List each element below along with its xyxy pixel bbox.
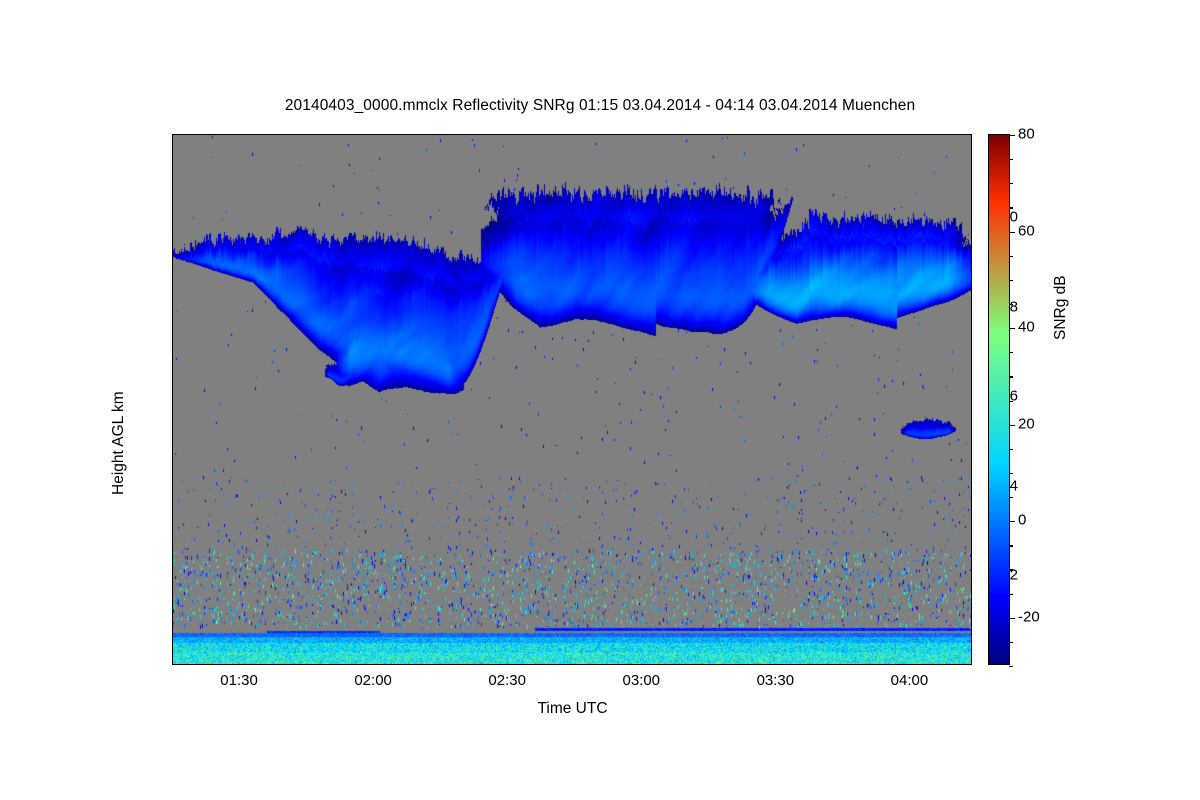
colorbar-tick-minor [1009, 256, 1013, 257]
y-tick-minor [172, 464, 173, 465]
colorbar-tick-minor [1009, 666, 1013, 667]
y-tick-minor [172, 442, 173, 443]
colorbar-tick-minor [1009, 473, 1013, 474]
colorbar-tick-minor [1009, 183, 1013, 184]
plot-area [172, 134, 972, 665]
y-tick-minor [172, 420, 173, 421]
colorbar-tick-major [1009, 135, 1015, 136]
x-tick-label: 02:00 [354, 672, 392, 689]
x-tick-minor [213, 664, 214, 665]
y-tick-minor [172, 240, 173, 241]
y-tick-minor [172, 599, 173, 600]
x-tick-minor [267, 664, 268, 665]
x-tick-minor [294, 664, 295, 665]
colorbar-tick-minor [1009, 497, 1013, 498]
colorbar-tick-label: 0 [1018, 512, 1026, 529]
radar-reflectivity-figure: 20140403_0000.mmclx Reflectivity SNRg 01… [0, 0, 1200, 800]
y-tick-label: 8 [1010, 298, 1018, 315]
x-tick-label: 02:30 [488, 672, 526, 689]
y-tick-label: 6 [1010, 388, 1018, 405]
x-tick-minor [320, 664, 321, 665]
y-tick-minor [172, 509, 173, 510]
colorbar-tick-minor [1009, 569, 1013, 570]
colorbar-gradient [989, 135, 1009, 664]
colorbar-tick-major [1009, 521, 1015, 522]
colorbar-tick-label: 60 [1018, 222, 1035, 239]
x-tick-minor [374, 664, 375, 665]
x-tick-minor [830, 664, 831, 665]
y-tick-major [172, 397, 173, 398]
x-tick-minor [803, 664, 804, 665]
colorbar-tick-minor [1009, 207, 1013, 208]
x-tick-major [776, 664, 777, 665]
colorbar-tick-major [1009, 425, 1015, 426]
x-tick-major [642, 664, 643, 665]
y-tick-major [172, 308, 173, 309]
x-tick-minor [776, 664, 777, 665]
x-tick-major [910, 664, 911, 665]
y-tick-minor [172, 352, 173, 353]
x-tick-minor [750, 664, 751, 665]
colorbar-tick-major [1009, 618, 1015, 619]
x-tick-minor [884, 664, 885, 665]
colorbar-tick-minor [1009, 401, 1013, 402]
x-tick-major [374, 664, 375, 665]
y-tick-minor [172, 151, 173, 152]
y-tick-minor [172, 195, 173, 196]
x-tick-minor [642, 664, 643, 665]
y-axis-title: Height AGL km [110, 391, 128, 495]
x-tick-minor [669, 664, 670, 665]
colorbar-tick-major [1009, 328, 1015, 329]
y-tick-minor [172, 554, 173, 555]
colorbar-tick-minor [1009, 159, 1013, 160]
y-tick-major [172, 218, 173, 219]
figure-title: 20140403_0000.mmclx Reflectivity SNRg 01… [0, 97, 1200, 115]
x-tick-minor [347, 664, 348, 665]
x-tick-minor [964, 664, 965, 665]
x-tick-label: 03:30 [757, 672, 795, 689]
x-tick-minor [481, 664, 482, 665]
colorbar-tick-major [1009, 232, 1015, 233]
y-tick-minor [172, 375, 173, 376]
x-tick-minor [455, 664, 456, 665]
x-tick-minor [589, 664, 590, 665]
colorbar-tick-minor [1009, 352, 1013, 353]
colorbar [988, 134, 1010, 665]
y-tick-major [172, 576, 173, 577]
colorbar-tick-label: -20 [1018, 608, 1040, 625]
y-tick-label: 4 [1010, 477, 1018, 494]
colorbar-tick-label: 20 [1018, 415, 1035, 432]
x-tick-minor [535, 664, 536, 665]
x-tick-label: 03:00 [622, 672, 660, 689]
colorbar-tick-minor [1009, 642, 1013, 643]
x-tick-minor [401, 664, 402, 665]
x-tick-minor [240, 664, 241, 665]
colorbar-tick-minor [1009, 449, 1013, 450]
y-tick-minor [172, 644, 173, 645]
x-tick-minor [562, 664, 563, 665]
x-tick-label: 04:00 [891, 672, 929, 689]
x-axis-title: Time UTC [0, 700, 1145, 718]
y-tick-minor [172, 532, 173, 533]
colorbar-tick-minor [1009, 280, 1013, 281]
colorbar-tick-label: 80 [1018, 126, 1035, 143]
colorbar-tick-minor [1009, 545, 1013, 546]
x-tick-minor [723, 664, 724, 665]
y-tick-minor [172, 285, 173, 286]
x-tick-minor [508, 664, 509, 665]
y-tick-minor [172, 263, 173, 264]
x-tick-major [240, 664, 241, 665]
y-tick-minor [172, 330, 173, 331]
x-tick-minor [615, 664, 616, 665]
x-tick-minor [910, 664, 911, 665]
colorbar-tick-label: 40 [1018, 319, 1035, 336]
colorbar-tick-minor [1009, 594, 1013, 595]
reflectivity-heatmap-canvas [173, 135, 972, 665]
x-tick-minor [696, 664, 697, 665]
colorbar-tick-minor [1009, 304, 1013, 305]
x-tick-minor [428, 664, 429, 665]
y-tick-minor [172, 621, 173, 622]
x-tick-minor [937, 664, 938, 665]
y-tick-major [172, 487, 173, 488]
y-tick-minor [172, 173, 173, 174]
colorbar-tick-minor [1009, 376, 1013, 377]
colorbar-title: SNRg dB [1052, 275, 1070, 340]
x-tick-minor [186, 664, 187, 665]
x-tick-major [508, 664, 509, 665]
x-tick-label: 01:30 [220, 672, 258, 689]
x-tick-minor [857, 664, 858, 665]
